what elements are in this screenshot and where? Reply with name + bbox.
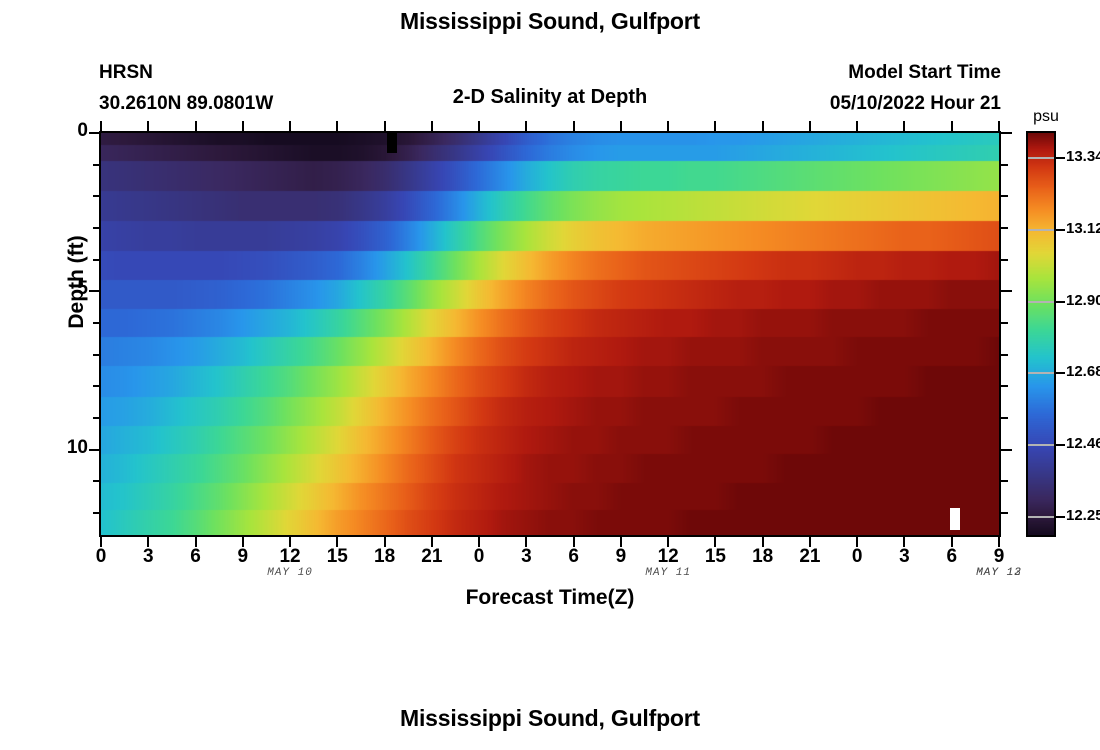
y-tick-minor — [93, 385, 100, 387]
page-title-bottom: Mississippi Sound, Gulfport — [0, 705, 1100, 732]
x-tick-label: 15 — [317, 546, 357, 568]
x-tick-top — [242, 121, 244, 131]
y-tick-minor-right — [1001, 164, 1008, 166]
y-tick-major — [89, 290, 100, 292]
x-tick-label: 15 — [695, 546, 735, 568]
y-tick-minor-right — [1001, 259, 1008, 261]
x-axis-label: Forecast Time(Z) — [0, 586, 1100, 610]
x-tick-label: 21 — [412, 546, 452, 568]
y-tick-minor-right — [1001, 480, 1008, 482]
x-tick-label: 9 — [979, 546, 1019, 568]
x-tick-label: 6 — [932, 546, 972, 568]
x-tick-top — [573, 121, 575, 131]
x-tick-top — [100, 121, 102, 131]
x-tick-top — [998, 121, 1000, 131]
colorbar-tick-label: 12.688 — [1066, 363, 1100, 380]
x-tick-top — [147, 121, 149, 131]
x-tick-label: 6 — [554, 546, 594, 568]
y-tick-minor — [93, 417, 100, 419]
colorbar-tick-label: 13.125 — [1066, 220, 1100, 237]
model-start-info: Model Start Time 05/10/2022 Hour 21 — [830, 57, 1001, 119]
y-tick-major — [89, 132, 100, 134]
x-tick-top — [525, 121, 527, 131]
page-title-top: Mississippi Sound, Gulfport — [0, 8, 1100, 35]
colorbar-unit-label: psu — [1026, 108, 1066, 126]
y-tick-minor — [93, 480, 100, 482]
x-tick-top — [336, 121, 338, 131]
salinity-heatmap-canvas[interactable] — [101, 133, 999, 535]
colorbar-tick-outer — [1056, 516, 1065, 518]
y-tick-major-right — [1001, 132, 1012, 134]
y-tick-minor-right — [1001, 354, 1008, 356]
y-tick-major-right — [1001, 290, 1012, 292]
y-tick-major — [89, 449, 100, 451]
x-tick-label: 3 — [884, 546, 924, 568]
x-tick-label: 0 — [81, 546, 121, 568]
x-tick-top — [951, 121, 953, 131]
colorbar-canvas — [1028, 133, 1054, 535]
x-tick-label: 3 — [506, 546, 546, 568]
x-tick-top — [289, 121, 291, 131]
heatmap-plot-area[interactable] — [99, 131, 1001, 537]
colorbar-tick-label: 12.906 — [1066, 292, 1100, 309]
colorbar-tick-outer — [1056, 372, 1065, 374]
x-tick-top — [667, 121, 669, 131]
y-tick-minor — [93, 227, 100, 229]
x-tick-label: 3 — [128, 546, 168, 568]
x-tick-top — [478, 121, 480, 131]
x-tick-label: 12 — [648, 546, 688, 568]
model-start-label: Model Start Time — [830, 57, 1001, 88]
y-tick-minor-right — [1001, 322, 1008, 324]
y-tick-label: 5 — [77, 278, 88, 300]
station-id: HRSN — [99, 57, 273, 88]
y-tick-minor-right — [1001, 385, 1008, 387]
colorbar-tick-label: 13.344 — [1066, 148, 1100, 165]
y-tick-minor-right — [1001, 512, 1008, 514]
y-tick-minor — [93, 322, 100, 324]
x-tick-label: 6 — [176, 546, 216, 568]
y-tick-minor-right — [1001, 195, 1008, 197]
x-tick-top — [431, 121, 433, 131]
y-tick-minor — [93, 259, 100, 261]
colorbar-tick-outer — [1056, 301, 1065, 303]
colorbar[interactable] — [1026, 131, 1056, 537]
black-marker — [387, 131, 397, 153]
x-tick-label: 9 — [223, 546, 263, 568]
x-tick-label: 9 — [601, 546, 641, 568]
model-start-value: 05/10/2022 Hour 21 — [830, 88, 1001, 119]
x-tick-top — [195, 121, 197, 131]
y-tick-label: 0 — [77, 120, 88, 142]
x-day-label: MAY 13 — [949, 567, 1049, 579]
x-tick-top — [384, 121, 386, 131]
white-marker — [950, 508, 960, 530]
colorbar-tick-label: 12.250 — [1066, 507, 1100, 524]
colorbar-tick-inner — [1028, 444, 1054, 446]
y-tick-minor-right — [1001, 417, 1008, 419]
colorbar-tick-outer — [1056, 229, 1065, 231]
y-tick-minor-right — [1001, 227, 1008, 229]
y-tick-minor — [93, 354, 100, 356]
x-tick-label: 18 — [365, 546, 405, 568]
colorbar-tick-label: 12.469 — [1066, 435, 1100, 452]
x-tick-top — [620, 121, 622, 131]
x-tick-label: 12 — [270, 546, 310, 568]
colorbar-tick-inner — [1028, 516, 1054, 518]
colorbar-tick-inner — [1028, 229, 1054, 231]
colorbar-tick-outer — [1056, 444, 1065, 446]
x-tick-top — [856, 121, 858, 131]
x-tick-label: 0 — [837, 546, 877, 568]
x-tick-top — [714, 121, 716, 131]
x-tick-label: 18 — [743, 546, 783, 568]
y-tick-minor — [93, 195, 100, 197]
x-tick-label: 0 — [459, 546, 499, 568]
colorbar-tick-inner — [1028, 372, 1054, 374]
x-day-label: MAY 10 — [240, 567, 340, 579]
colorbar-tick-outer — [1056, 157, 1065, 159]
x-day-label: MAY 11 — [618, 567, 718, 579]
y-tick-minor — [93, 512, 100, 514]
x-tick-top — [809, 121, 811, 131]
x-tick-top — [903, 121, 905, 131]
x-tick-label: 21 — [790, 546, 830, 568]
colorbar-tick-inner — [1028, 157, 1054, 159]
y-tick-minor — [93, 164, 100, 166]
y-tick-major-right — [1001, 449, 1012, 451]
x-tick-top — [762, 121, 764, 131]
y-tick-label: 10 — [67, 437, 88, 459]
colorbar-tick-inner — [1028, 301, 1054, 303]
